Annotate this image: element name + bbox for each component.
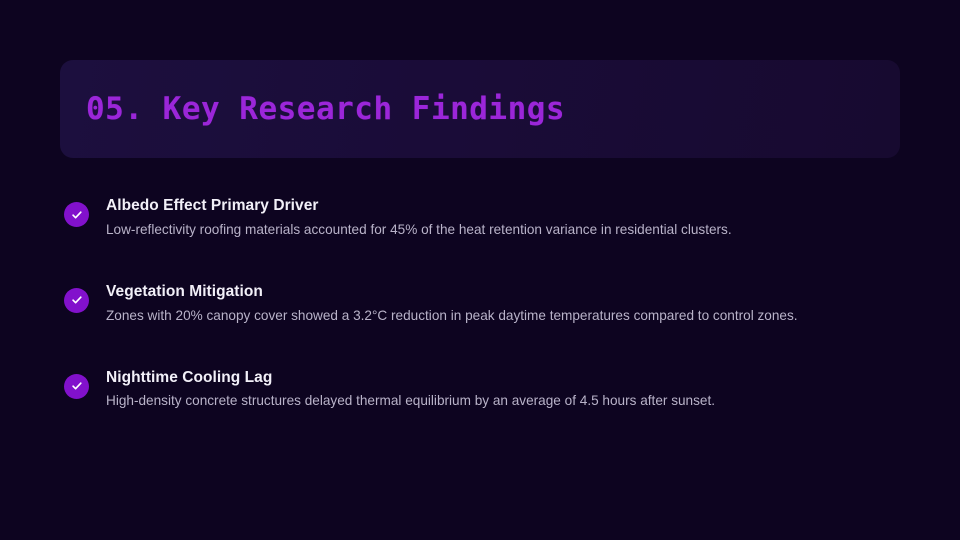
key-findings-list: Albedo Effect Primary Driver Low-reflect… [64,196,884,411]
check-circle-icon-shape [64,374,89,399]
list-item: Vegetation Mitigation Zones with 20% can… [64,282,884,326]
slide-header-banner: 05. Key Research Findings [60,60,900,158]
finding-heading: Nighttime Cooling Lag [106,368,884,389]
check-circle-icon-shape [64,288,89,313]
finding-heading: Vegetation Mitigation [106,282,884,303]
list-item-text: Vegetation Mitigation Zones with 20% can… [106,282,884,326]
list-item-text: Nighttime Cooling Lag High-density concr… [106,368,884,412]
presentation-slide: 05. Key Research Findings Albedo Effect … [0,0,960,540]
check-circle-icon-shape [64,202,89,227]
finding-description: Low-reflectivity roofing materials accou… [106,220,806,240]
finding-description: Zones with 20% canopy cover showed a 3.2… [106,306,806,326]
list-item-text: Albedo Effect Primary Driver Low-reflect… [106,196,884,240]
finding-description: High-density concrete structures delayed… [106,391,806,411]
check-circle-icon [64,288,89,313]
finding-heading: Albedo Effect Primary Driver [106,196,884,217]
check-circle-icon [64,202,89,227]
list-item: Albedo Effect Primary Driver Low-reflect… [64,196,884,240]
check-circle-icon [64,374,89,399]
list-item: Nighttime Cooling Lag High-density concr… [64,368,884,412]
page-title: 05. Key Research Findings [86,92,565,126]
